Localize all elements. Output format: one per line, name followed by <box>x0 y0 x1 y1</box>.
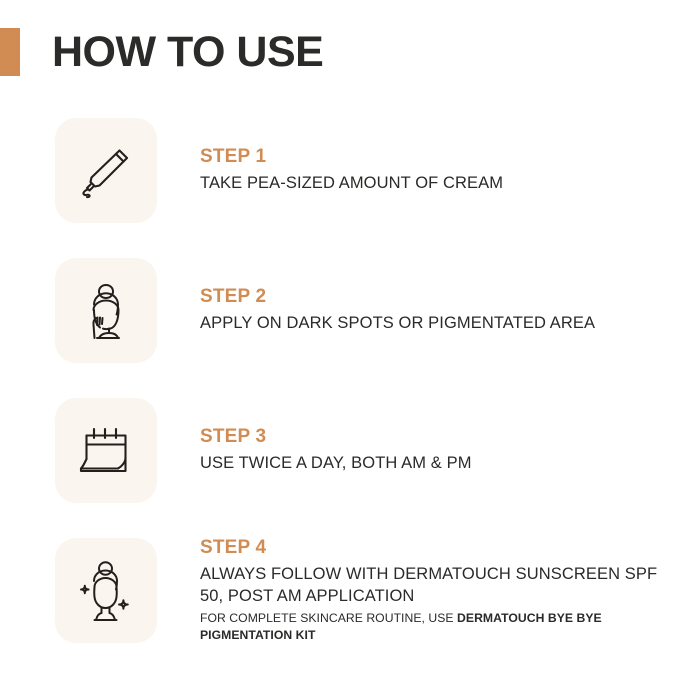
step-text-block: STEP 1 TAKE PEA-SIZED AMOUNT OF CREAM <box>200 110 670 230</box>
step-description: APPLY ON DARK SPOTS OR PIGMENTATED AREA <box>200 312 670 334</box>
step-icon-tile <box>55 538 157 643</box>
step-icon-tile <box>55 118 157 223</box>
calendar-icon <box>74 419 138 483</box>
accent-bar <box>0 28 20 76</box>
step-row: STEP 1 TAKE PEA-SIZED AMOUNT OF CREAM <box>0 110 700 250</box>
cream-tube-icon <box>73 138 139 204</box>
step-description: USE TWICE A DAY, BOTH AM & PM <box>200 452 670 474</box>
step-text-block: STEP 3 USE TWICE A DAY, BOTH AM & PM <box>200 390 670 510</box>
step-icon-tile <box>55 258 157 363</box>
step-label: STEP 3 <box>200 426 670 448</box>
steps-list: STEP 1 TAKE PEA-SIZED AMOUNT OF CREAM <box>0 110 700 670</box>
step-row: STEP 2 APPLY ON DARK SPOTS OR PIGMENTATE… <box>0 250 700 390</box>
step-label: STEP 1 <box>200 146 670 168</box>
step-note-prefix: FOR COMPLETE SKINCARE ROUTINE, USE <box>200 611 457 625</box>
step-note: FOR COMPLETE SKINCARE ROUTINE, USE DERMA… <box>200 610 670 643</box>
page-header: HOW TO USE <box>0 26 700 78</box>
woman-applying-cream-icon <box>72 277 140 345</box>
step-description: TAKE PEA-SIZED AMOUNT OF CREAM <box>200 172 670 194</box>
step-label: STEP 2 <box>200 286 670 308</box>
step-text-block: STEP 4 ALWAYS FOLLOW WITH DERMATOUCH SUN… <box>200 530 670 650</box>
step-description: ALWAYS FOLLOW WITH DERMATOUCH SUNSCREEN … <box>200 563 670 608</box>
step-row: STEP 3 USE TWICE A DAY, BOTH AM & PM <box>0 390 700 530</box>
step-label: STEP 4 <box>200 537 670 559</box>
step-row: STEP 4 ALWAYS FOLLOW WITH DERMATOUCH SUN… <box>0 530 700 670</box>
page-title: HOW TO USE <box>52 31 323 74</box>
glowing-face-icon <box>70 556 142 626</box>
step-icon-tile <box>55 398 157 503</box>
step-text-block: STEP 2 APPLY ON DARK SPOTS OR PIGMENTATE… <box>200 250 670 370</box>
